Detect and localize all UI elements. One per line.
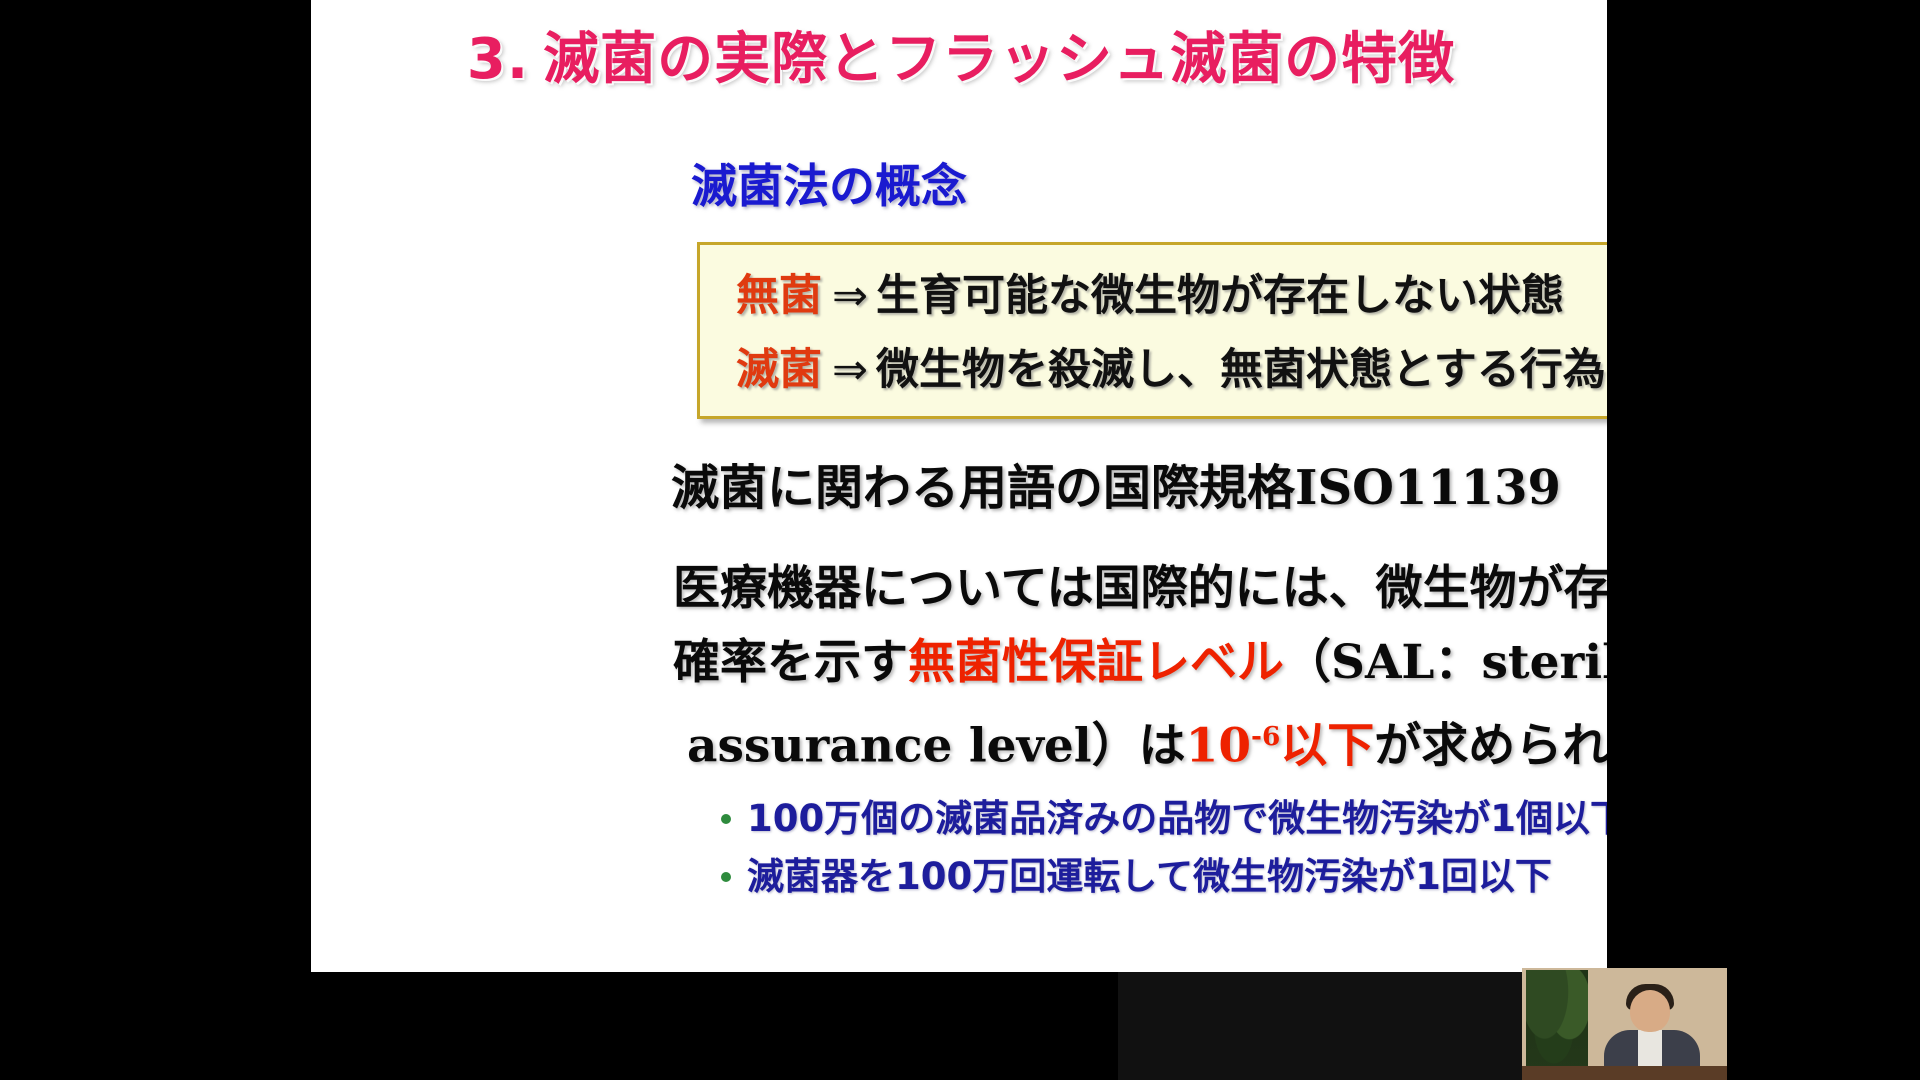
presenter-webcam <box>1522 968 1727 1080</box>
paren-open: （ <box>1284 635 1331 690</box>
paren-close: ） <box>1092 719 1139 774</box>
definition-term: 無菌 <box>736 271 822 321</box>
screen: 3.滅菌の実際とフラッシュ滅菌の特徴 滅菌法の概念 無菌⇒生育可能な微生物が存在… <box>0 0 1920 1080</box>
definition-row: 滅菌⇒微生物を殺滅し、無菌状態とする行為 <box>736 333 1607 407</box>
bullet-dot-icon <box>721 872 731 882</box>
slide-title-number: 3. <box>467 27 529 92</box>
definition-term: 滅菌 <box>736 345 822 395</box>
arrow-icon: ⇒ <box>832 345 868 395</box>
letterbox-bottom <box>1118 972 1522 1080</box>
list-item-label: 100万個の滅菌品済みの品物で微生物汚染が1個以下 <box>747 790 1607 848</box>
definition-description: 生育可能な微生物が存在しない状態 <box>876 271 1564 321</box>
slide-title: 3.滅菌の実際とフラッシュ滅菌の特徴 <box>331 14 1591 95</box>
particle-ha: は <box>1139 719 1186 774</box>
iso-heading: 滅菌に関わる用語の国際規格ISO11139 <box>671 448 1561 518</box>
paragraph-line-3: assurance level）は10-6以下が求められている <box>673 700 1607 784</box>
letterbox-left <box>0 972 1118 1080</box>
slide-canvas: 3.滅菌の実際とフラッシュ滅菌の特徴 滅菌法の概念 無菌⇒生育可能な微生物が存在… <box>311 0 1607 972</box>
slide-subtitle: 滅菌法の概念 <box>691 150 967 216</box>
iso-standard-code: ISO11139 <box>1295 460 1561 516</box>
sal-expansion: assurance level <box>687 719 1092 774</box>
paragraph-line-2: 確率を示す無菌性保証レベル（SAL：sterility <box>673 626 1607 700</box>
definition-description: 微生物を殺滅し、無菌状態とする行為 <box>876 345 1606 395</box>
iso-heading-prefix: 滅菌に関わる用語の国際規格 <box>671 460 1295 516</box>
bullet-list: 100万個の滅菌品済みの品物で微生物汚染が1個以下 滅菌器を100万回運転して微… <box>721 790 1607 906</box>
list-item: 100万個の滅菌品済みの品物で微生物汚染が1個以下 <box>721 790 1607 848</box>
list-item: 滅菌器を100万回運転して微生物汚染が1回以下 <box>721 848 1607 906</box>
definition-box: 無菌⇒生育可能な微生物が存在しない状態 滅菌⇒微生物を殺滅し、無菌状態とする行為 <box>697 242 1607 419</box>
letterbox-right <box>1727 972 1920 1080</box>
sal-term-highlight: 無菌性保証レベル <box>908 635 1284 690</box>
sal-abbrev: SAL：sterility <box>1331 635 1607 690</box>
arrow-icon: ⇒ <box>832 271 868 321</box>
slide-title-text: 滅菌の実際とフラッシュ滅菌の特徴 <box>543 27 1455 92</box>
plant-decoration <box>1526 970 1588 1078</box>
definition-row: 無菌⇒生育可能な微生物が存在しない状態 <box>736 259 1607 333</box>
paragraph-line-2-prefix: 確率を示す <box>673 635 908 690</box>
paragraph-line-3-tail: が求められている <box>1374 719 1607 774</box>
list-item-label: 滅菌器を100万回運転して微生物汚染が1回以下 <box>747 848 1552 906</box>
desk-edge <box>1522 1066 1727 1080</box>
sal-value-suffix: 以下 <box>1280 719 1374 774</box>
sal-value-exponent: -6 <box>1251 721 1280 752</box>
sal-value-base: 10 <box>1186 719 1251 774</box>
paragraph-line-1: 医療機器については国際的には、微生物が存在する <box>673 552 1607 626</box>
body-paragraph: 医療機器については国際的には、微生物が存在する 確率を示す無菌性保証レベル（SA… <box>673 552 1607 784</box>
presenter-head <box>1630 990 1670 1032</box>
bullet-dot-icon <box>721 814 731 824</box>
